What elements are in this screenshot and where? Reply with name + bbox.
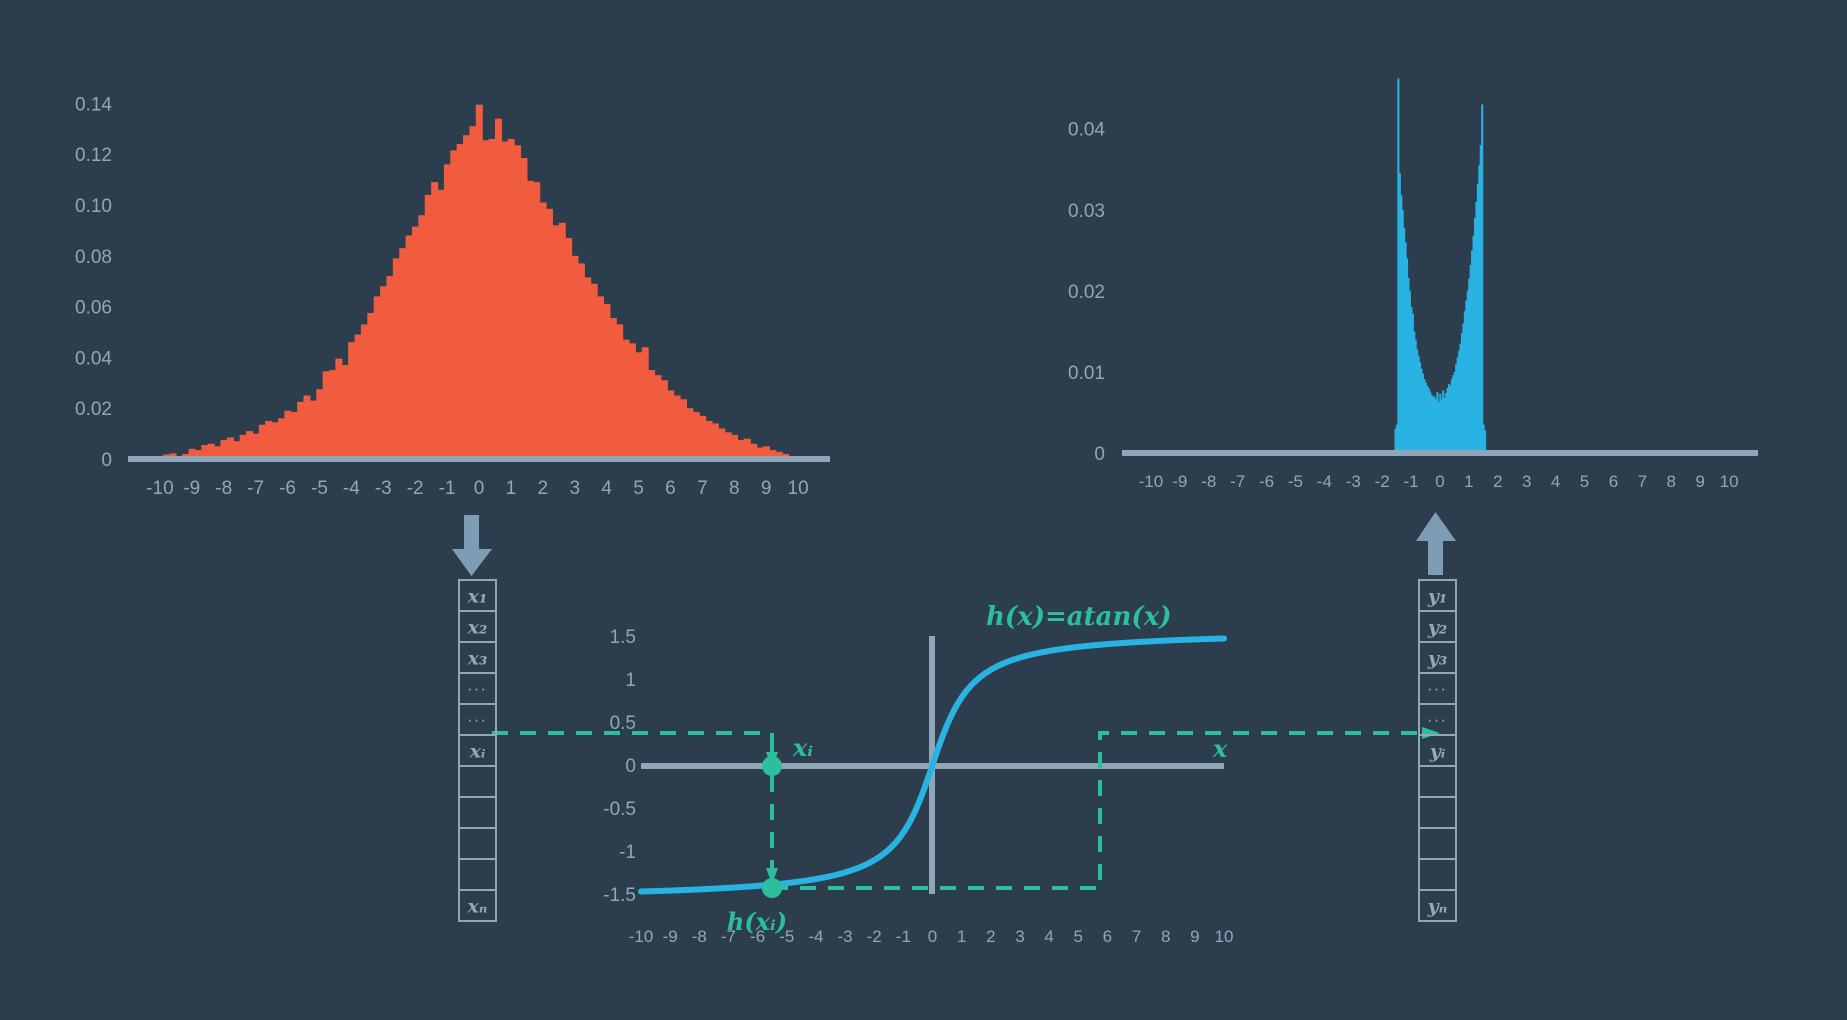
input-vector-cell-label: x₂ [467, 617, 488, 639]
input-vector-cell[interactable] [459, 766, 496, 797]
input-vector-cell-label: x₁ [467, 586, 488, 608]
input-vector-cell[interactable] [459, 797, 496, 828]
output-vector-cell[interactable] [1419, 797, 1456, 828]
output-vector-cell[interactable] [1419, 859, 1456, 890]
figure-canvas: 0.140.120.100.080.060.040.020 -10-9-8-7-… [0, 0, 1847, 1020]
vector-grids: x₁x₂x₃......xᵢxₙ y₁y₂y₃......yᵢyₙ [0, 0, 1847, 1020]
input-vector-cell[interactable] [459, 828, 496, 859]
input-vector-grid[interactable]: x₁x₂x₃......xᵢxₙ [459, 580, 496, 921]
output-vector-cell-label: yᵢ [1429, 741, 1446, 763]
output-vector-cell[interactable] [1419, 766, 1456, 797]
input-vector-cell-label: xₙ [466, 896, 487, 918]
input-vector-cell-label: ... [467, 707, 487, 726]
input-vector-cell-label: ... [467, 676, 487, 695]
output-vector-cell-label: y₃ [1427, 648, 1447, 670]
output-vector-grid[interactable]: y₁y₂y₃......yᵢyₙ [1419, 580, 1456, 921]
output-vector-cell-label: yₙ [1427, 896, 1448, 918]
input-vector-cell-label: x₃ [467, 648, 488, 670]
input-vector-cell[interactable] [459, 859, 496, 890]
output-vector-cell[interactable] [1419, 828, 1456, 859]
output-vector-cell-label: y₁ [1427, 586, 1447, 608]
output-vector-cell-label: ... [1427, 707, 1447, 726]
input-vector-cell-label: xᵢ [469, 741, 486, 763]
output-vector-cell-label: y₂ [1427, 617, 1447, 639]
output-vector-cell-label: ... [1427, 676, 1447, 695]
